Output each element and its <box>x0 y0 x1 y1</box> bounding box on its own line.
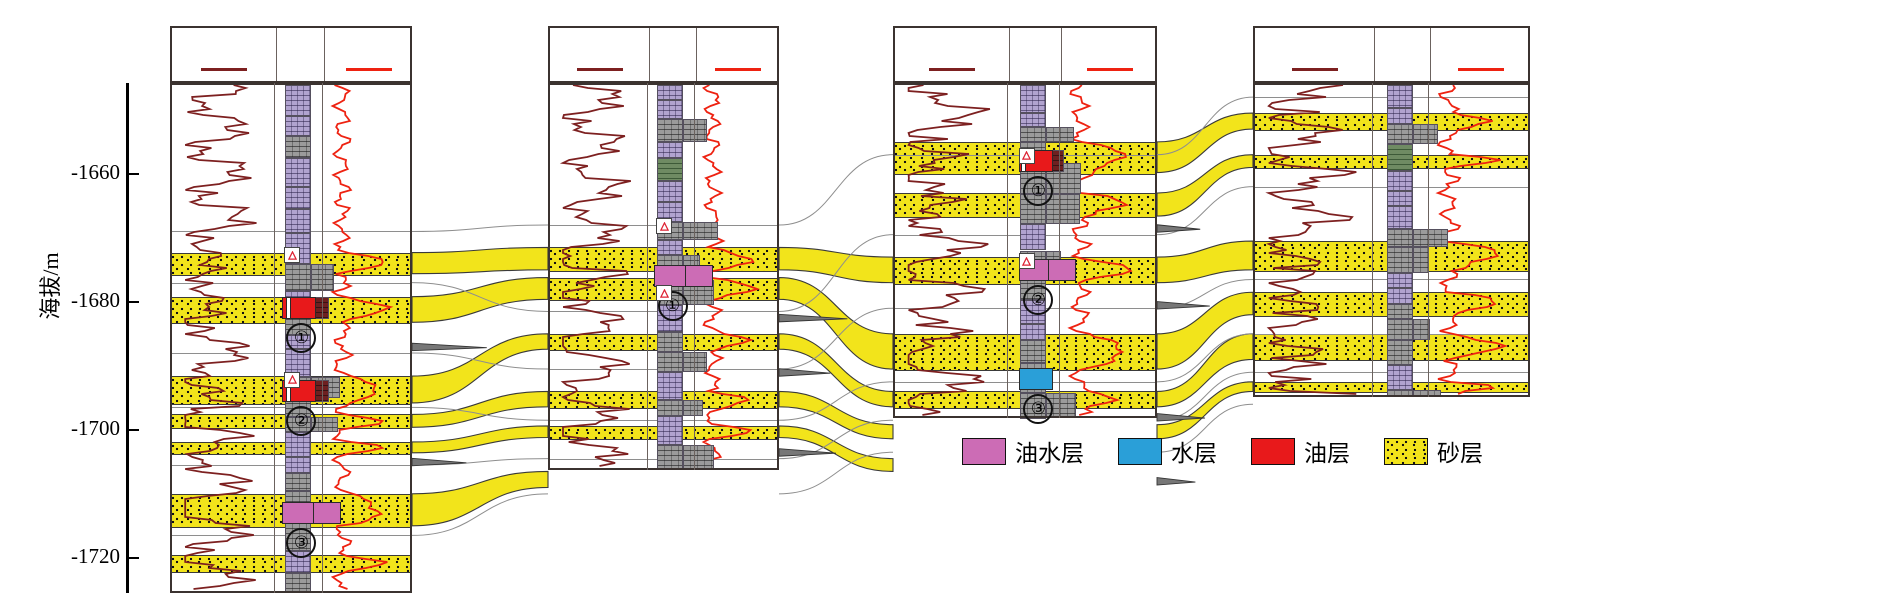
lithology-header <box>276 28 324 81</box>
oil-water-marker <box>685 265 713 287</box>
legend-label: 水层 <box>1171 434 1217 468</box>
grain-size-bar <box>683 352 706 373</box>
lithology-segment <box>1387 390 1413 397</box>
gr-header <box>172 28 276 55</box>
oil-show-triangle-icon <box>284 247 300 263</box>
lithology-segment <box>657 416 683 445</box>
rt-scale-bar <box>1087 68 1133 71</box>
track-header <box>893 26 1157 83</box>
fluid-interval-box <box>282 502 316 524</box>
rt-scale <box>1061 55 1159 83</box>
rt-scale <box>324 55 414 83</box>
gr-scale <box>172 55 276 83</box>
gr-curve <box>1269 85 1357 394</box>
rt-curve <box>1438 85 1505 394</box>
track-separator-2 <box>1059 83 1060 418</box>
grain-size-bar <box>1413 247 1429 273</box>
lithology-segment <box>285 136 311 157</box>
oil-show-triangle-icon <box>284 372 300 388</box>
lithology-segment <box>1387 144 1413 172</box>
track-header <box>548 26 779 83</box>
rt-header <box>1430 28 1532 55</box>
legend-item: 油层 <box>1251 434 1350 468</box>
rt-curve <box>333 85 391 589</box>
rt-scale-bar <box>1458 68 1504 71</box>
oil-show-triangle-icon <box>1019 253 1035 269</box>
rt-header <box>1061 28 1159 55</box>
rt-scale <box>1430 55 1532 83</box>
grain-size-bar <box>683 119 706 143</box>
lithology-segment <box>1387 365 1413 389</box>
lithology-segment <box>285 264 311 291</box>
lithology-segment <box>1387 124 1413 143</box>
oil-show-tick <box>286 297 291 319</box>
legend-label: 油水层 <box>1015 434 1084 468</box>
lithology-segment <box>285 457 311 472</box>
lithology-segment <box>657 332 683 351</box>
grain-size-bar <box>1413 124 1439 143</box>
lithology-segment <box>285 158 311 187</box>
lithology-segment <box>1020 324 1046 339</box>
lithology-segment <box>1387 288 1413 303</box>
lithology-segment <box>1387 319 1413 340</box>
rt-header <box>696 28 781 55</box>
track-header <box>170 26 412 83</box>
lithology-segment <box>285 209 311 234</box>
lithology-segment <box>1020 127 1046 142</box>
track-separator-1 <box>274 83 275 593</box>
rt-scale-bar <box>715 68 761 71</box>
lithology-segment <box>1020 340 1046 364</box>
grain-size-bar <box>683 222 717 240</box>
legend-swatch-water <box>1118 438 1162 465</box>
interval-marker: ② <box>1023 285 1053 315</box>
lithology-segment <box>657 445 683 470</box>
grain-size-bar <box>1413 229 1448 247</box>
lithology-segment <box>1387 229 1413 247</box>
lithology-segment <box>657 100 683 119</box>
oil-show-triangle-icon <box>656 285 672 301</box>
lithology-segment <box>657 352 683 373</box>
lithology-segment <box>285 116 311 137</box>
lithology-segment <box>657 158 683 181</box>
gr-curve <box>909 85 990 415</box>
lithology-header <box>649 28 695 81</box>
grain-size-bar <box>1046 194 1080 224</box>
legend: 油水层水层油层砂层 <box>962 434 1517 468</box>
gr-curve <box>185 85 256 589</box>
lithology-segment <box>1387 273 1413 288</box>
lithology-segment <box>1387 171 1413 191</box>
lithology-segment <box>285 187 311 208</box>
gr-scale <box>895 55 1009 83</box>
legend-label: 砂层 <box>1437 434 1483 468</box>
gr-scale <box>1255 55 1374 83</box>
rt-curve <box>1070 85 1131 415</box>
grain-size-bar <box>683 445 714 470</box>
gr-header <box>1255 28 1374 55</box>
lithology-segment <box>285 432 311 457</box>
gr-curve <box>563 85 631 466</box>
oil-show-triangle-icon <box>656 218 672 234</box>
gr-scale-bar <box>1292 68 1338 71</box>
lithology-segment <box>1020 113 1046 127</box>
oil-water-marker <box>313 502 341 524</box>
gr-scale-bar <box>929 68 975 71</box>
lithology-segment <box>657 181 683 202</box>
lithology-column <box>1387 83 1413 397</box>
gr-header <box>550 28 649 55</box>
lithology-segment <box>1387 206 1413 229</box>
gr-scale <box>550 55 649 83</box>
track-separator-1 <box>1007 83 1008 418</box>
lithology-segment <box>657 142 683 158</box>
lithology-segment <box>1020 85 1046 113</box>
gr-scale-bar <box>577 68 623 71</box>
lithology-segment <box>285 473 311 492</box>
gr-header <box>895 28 1009 55</box>
track-separator-2 <box>1428 83 1429 397</box>
lithology-segment <box>657 119 683 143</box>
lithology-segment <box>1387 108 1413 124</box>
legend-item: 砂层 <box>1384 434 1483 468</box>
rt-header <box>324 28 414 55</box>
legend-item: 水层 <box>1118 434 1217 468</box>
lithology-segment <box>1387 247 1413 273</box>
track-separator-1 <box>1372 83 1373 397</box>
legend-swatch-oil-water <box>962 438 1006 465</box>
oil-water-marker <box>1048 259 1076 281</box>
lithology-segment <box>1020 224 1046 250</box>
lithology-segment <box>1387 340 1413 365</box>
gr-scale-bar <box>201 68 247 71</box>
legend-item: 油水层 <box>962 434 1084 468</box>
track-separator-1 <box>647 83 648 470</box>
rt-scale-bar <box>346 68 392 71</box>
lithology-header <box>1009 28 1062 81</box>
lithology-segment <box>657 400 683 416</box>
lithology-segment <box>657 85 683 100</box>
legend-swatch-sand <box>1384 438 1428 465</box>
legend-label: 油层 <box>1304 434 1350 468</box>
oil-show-triangle-icon <box>1019 148 1035 164</box>
lithology-segment <box>657 372 683 400</box>
lithology-header <box>1374 28 1429 81</box>
interval-marker: ③ <box>1023 394 1053 424</box>
fluid-interval-box <box>1019 368 1053 390</box>
lithology-segment <box>285 573 311 593</box>
lithology-segment <box>1387 304 1413 319</box>
lithology-segment <box>1387 191 1413 206</box>
track-header <box>1253 26 1530 83</box>
lithology-segment <box>657 240 683 255</box>
well-correlation-figure: 海拔/m 油水层水层油层砂层 -1660-1680-1700-1720 ①②③ <box>0 0 1890 607</box>
legend-swatch-oil <box>1251 438 1295 465</box>
lithology-segment <box>285 85 311 116</box>
rt-scale <box>696 55 781 83</box>
lithology-segment <box>1387 85 1413 108</box>
fluid-interval-box <box>654 265 688 287</box>
